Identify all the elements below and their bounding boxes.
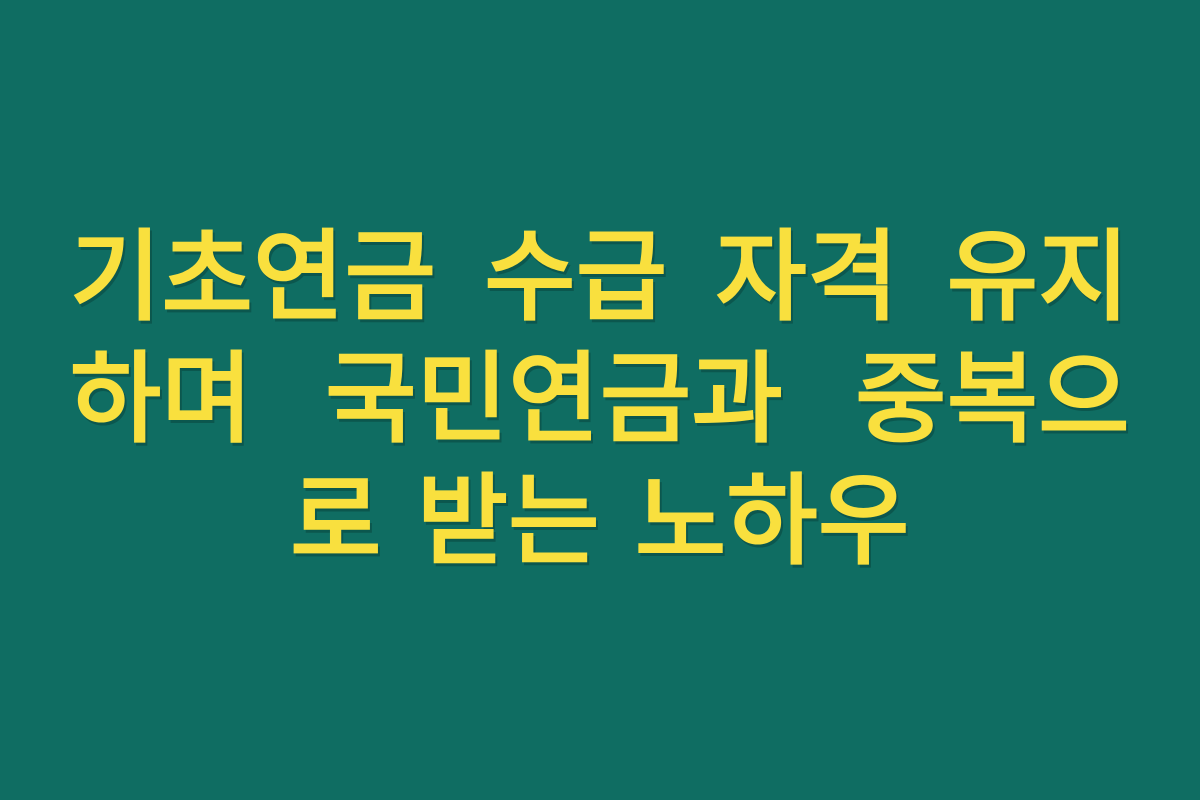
headline-line-2: 하며 국민연금과 중복으 [70, 339, 1130, 461]
headline-line-3: 로 받는 노하우 [70, 461, 1130, 583]
page-title: 기초연금 수급 자격 유지 하며 국민연금과 중복으 로 받는 노하우 [70, 217, 1130, 583]
headline-line-1: 기초연금 수급 자격 유지 [70, 217, 1130, 339]
thumbnail-canvas: 기초연금 수급 자격 유지 하며 국민연금과 중복으 로 받는 노하우 [0, 0, 1200, 800]
